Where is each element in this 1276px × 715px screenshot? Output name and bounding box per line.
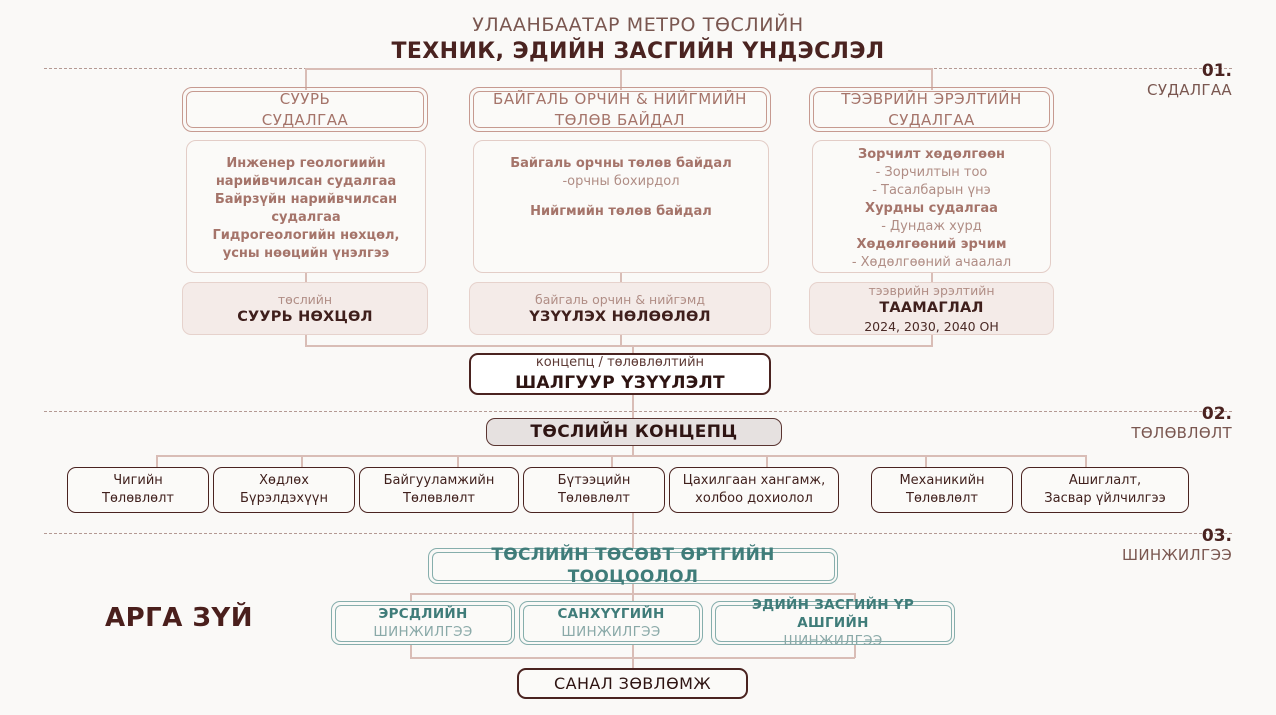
section-name-03: ШИНЖИЛГЭЭ xyxy=(1062,545,1232,565)
research-body-3-inner: Зорчилт хөдөлгөөн - Зорчилтын тоо - Таса… xyxy=(813,146,1050,272)
plan-box-7-label: Ашиглалт,Засвар үйлчилгээ xyxy=(1044,472,1165,508)
research-body-1-line-0: Инженер геологиийн xyxy=(187,155,425,173)
plan-box-4[interactable]: БүтээцийнТөлөвлөлт xyxy=(523,467,665,513)
plan-box-1-label: ЧигийнТөлөвлөлт xyxy=(102,472,174,508)
connector-cost-drop xyxy=(632,584,634,593)
research-result-3-years: 2024, 2030, 2040 ОН xyxy=(864,318,999,335)
plan-box-5[interactable]: Цахилгаан хангамж,холбоо дохиолол xyxy=(669,467,839,513)
research-body-1-line-3: судалгаа xyxy=(187,209,425,227)
research-body-3-line-2: - Тасалбарын үнэ xyxy=(813,182,1050,200)
analysis-box-1-line1: ЭРСДЛИЙН xyxy=(378,605,467,623)
research-body-1-line-5: усны нөөцийн үнэлгээ xyxy=(187,245,425,263)
connector-col2-body-to-result xyxy=(620,273,622,282)
plan-box-7[interactable]: Ашиглалт,Засвар үйлчилгээ xyxy=(1021,467,1189,513)
connector-col1-body-to-result xyxy=(305,273,307,282)
section-label-03: 03. ШИНЖИЛГЭЭ xyxy=(1062,527,1232,565)
research-body-3-line-3: Хурдны судалгаа xyxy=(813,200,1050,218)
section-number-03: 03. xyxy=(1062,527,1232,545)
research-header-3-inner: ТЭЭВРИЙН ЭРЭЛТИЙН СУДАЛГАА xyxy=(813,91,1050,128)
plan-box-3-label: БайгууламжийнТөлөвлөлт xyxy=(384,472,495,508)
research-result-2-small: байгаль орчин & нийгэмд xyxy=(535,291,705,308)
section-label-01: 01. СУДАЛГАА xyxy=(1062,62,1232,100)
connector-analysis-drop-1 xyxy=(410,593,412,601)
connector-top-bus xyxy=(305,68,933,70)
cost-box: ТӨСЛИЙН ТӨСӨВТ ӨРТГИЙН ТООЦООЛОЛ xyxy=(428,548,838,584)
connector-merge-bus xyxy=(305,345,933,347)
research-body-2-line-3: Нийгмийн төлөв байдал xyxy=(474,203,768,221)
section-name-01: СУДАЛГАА xyxy=(1062,80,1232,100)
research-result-3-big: ТААМАГЛАЛ xyxy=(879,299,983,318)
section-number-02: 02. xyxy=(1062,405,1232,423)
indicator-box-big: ШАЛГУУР ҮЗҮҮЛЭЛТ xyxy=(515,372,725,394)
concept-box-label: ТӨСЛИЙН КОНЦЕПЦ xyxy=(530,422,737,442)
research-header-3: ТЭЭВРИЙН ЭРЭЛТИЙН СУДАЛГАА xyxy=(809,87,1054,132)
research-header-3-text: ТЭЭВРИЙН ЭРЭЛТИЙН СУДАЛГАА xyxy=(841,89,1022,131)
plan-box-4-label: БүтээцийнТөлөвлөлт xyxy=(558,472,631,508)
research-body-2: Байгаль орчны төлөв байдал -орчны бохирд… xyxy=(473,140,769,273)
research-body-1-inner: Инженер геологиийн нарийвчилсан судалгаа… xyxy=(187,155,425,263)
connector-col3-body-to-result xyxy=(931,273,933,282)
connector-indicator-to-concept xyxy=(632,395,634,418)
indicator-box: концепц / төлөвлөлтийн ШАЛГУУР ҮЗҮҮЛЭЛТ xyxy=(469,353,771,395)
research-result-1: төслийн СУУРЬ НӨХЦӨЛ xyxy=(182,282,428,335)
final-box-label: САНАЛ ЗӨВЛӨМЖ xyxy=(554,674,711,693)
plan-box-6[interactable]: МеханикийнТөлөвлөлт xyxy=(871,467,1013,513)
concept-box: ТӨСЛИЙН КОНЦЕПЦ xyxy=(486,418,782,446)
analysis-box-3-inner: ЭДИЙН ЗАСГИЙН ҮР АШГИЙН ШИНЖИЛГЭЭ xyxy=(715,605,952,642)
research-body-3-line-6: - Хөдөлгөөний ачаалал xyxy=(813,254,1050,272)
research-body-1-line-4: Гидрогеологийн нөхцөл, xyxy=(187,227,425,245)
research-result-1-small: төслийн xyxy=(278,291,332,308)
research-body-3-line-0: Зорчилт хөдөлгөөн xyxy=(813,146,1050,164)
connector-final-drop xyxy=(632,657,634,668)
research-result-2: байгаль орчин & нийгэмд ҮЗҮҮЛЭХ НӨЛӨӨЛӨЛ xyxy=(469,282,771,335)
research-header-1-inner: СУУРЬ СУДАЛГАА xyxy=(186,91,424,128)
section-name-02: ТӨЛӨВЛӨЛТ xyxy=(1062,423,1232,443)
diagram-canvas: УЛААНБААТАР МЕТРО ТӨСЛИЙН ТЕХНИК, ЭДИЙН … xyxy=(0,0,1276,715)
cost-box-inner: ТӨСЛИЙН ТӨСӨВТ ӨРТГИЙН ТООЦООЛОЛ xyxy=(432,552,835,581)
page-title: УЛААНБААТАР МЕТРО ТӨСЛИЙН ТЕХНИК, ЭДИЙН … xyxy=(0,12,1276,66)
research-body-3: Зорчилт хөдөлгөөн - Зорчилтын тоо - Таса… xyxy=(812,140,1051,273)
indicator-box-small: концепц / төлөвлөлтийн xyxy=(536,354,704,372)
research-result-3: тээврийн эрэлтийн ТААМАГЛАЛ 2024, 2030, … xyxy=(809,282,1054,335)
section-number-01: 01. xyxy=(1062,62,1232,80)
research-result-3-small: тээврийн эрэлтийн xyxy=(868,282,994,299)
research-body-3-line-5: Хөдөлгөөний эрчим xyxy=(813,236,1050,254)
plan-box-2[interactable]: ХөдлөхБүрэлдэхүүн xyxy=(213,467,355,513)
research-body-2-spacer xyxy=(474,191,768,203)
analysis-box-1-inner: ЭРСДЛИЙН ШИНЖИЛГЭЭ xyxy=(335,605,512,642)
research-result-2-big: ҮЗҮҮЛЭХ НӨЛӨӨЛӨЛ xyxy=(529,308,710,327)
cost-box-label: ТӨСЛИЙН ТӨСӨВТ ӨРТГИЙН ТООЦООЛОЛ xyxy=(433,544,834,588)
analysis-box-3-line1: ЭДИЙН ЗАСГИЙН ҮР АШГИЙН xyxy=(716,596,951,632)
connector-analysis-drop-2 xyxy=(632,593,634,601)
research-header-2-inner: БАЙГАЛЬ ОРЧИН & НИЙГМИЙН ТӨЛӨВ БАЙДАЛ xyxy=(473,91,767,128)
section-label-02: 02. ТӨЛӨВЛӨЛТ xyxy=(1062,405,1232,443)
plan-box-6-label: МеханикийнТөлөвлөлт xyxy=(899,472,984,508)
research-body-2-line-0: Байгаль орчны төлөв байдал xyxy=(474,155,768,173)
analysis-box-1-line2: ШИНЖИЛГЭЭ xyxy=(373,623,472,641)
final-box: САНАЛ ЗӨВЛӨМЖ xyxy=(517,668,748,699)
plan-box-3[interactable]: БайгууламжийнТөлөвлөлт xyxy=(359,467,519,513)
analysis-box-2[interactable]: САНХҮҮГИЙН ШИНЖИЛГЭЭ xyxy=(519,601,703,645)
research-header-2: БАЙГАЛЬ ОРЧИН & НИЙГМИЙН ТӨЛӨВ БАЙДАЛ xyxy=(469,87,771,132)
research-body-1-line-2: Байрзүйн нарийвчилсан xyxy=(187,191,425,209)
research-result-1-big: СУУРЬ НӨХЦӨЛ xyxy=(237,308,373,327)
title-line-1: УЛААНБААТАР МЕТРО ТӨСЛИЙН xyxy=(0,12,1276,38)
research-body-2-line-1: -орчны бохирдол xyxy=(474,173,768,191)
research-body-1: Инженер геологиийн нарийвчилсан судалгаа… xyxy=(186,140,426,273)
research-body-2-inner: Байгаль орчны төлөв байдал -орчны бохирд… xyxy=(474,155,768,221)
analysis-box-2-line1: САНХҮҮГИЙН xyxy=(557,605,664,623)
methodology-label: АРГА ЗҮЙ xyxy=(105,603,253,633)
research-body-1-line-1: нарийвчилсан судалгаа xyxy=(187,173,425,191)
analysis-box-2-inner: САНХҮҮГИЙН ШИНЖИЛГЭЭ xyxy=(523,605,700,642)
analysis-box-2-line2: ШИНЖИЛГЭЭ xyxy=(561,623,660,641)
plan-box-5-label: Цахилгаан хангамж,холбоо дохиолол xyxy=(683,472,826,508)
research-header-1: СУУРЬ СУДАЛГАА xyxy=(182,87,428,132)
plan-box-2-label: ХөдлөхБүрэлдэхүүн xyxy=(240,472,328,508)
research-body-3-line-4: - Дундаж хурд xyxy=(813,218,1050,236)
analysis-box-1[interactable]: ЭРСДЛИЙН ШИНЖИЛГЭЭ xyxy=(331,601,515,645)
analysis-box-3[interactable]: ЭДИЙН ЗАСГИЙН ҮР АШГИЙН ШИНЖИЛГЭЭ xyxy=(711,601,955,645)
plan-box-1[interactable]: ЧигийнТөлөвлөлт xyxy=(67,467,209,513)
connector-merge-to-indicator xyxy=(632,345,634,353)
section-divider-03 xyxy=(44,533,1232,534)
research-body-3-line-1: - Зорчилтын тоо xyxy=(813,164,1050,182)
research-header-2-text: БАЙГАЛЬ ОРЧИН & НИЙГМИЙН ТӨЛӨВ БАЙДАЛ xyxy=(493,89,747,131)
analysis-box-3-line2: ШИНЖИЛГЭЭ xyxy=(783,632,882,650)
connector-plan-bus xyxy=(156,455,1086,457)
section-divider-02 xyxy=(44,411,1232,412)
research-header-1-text: СУУРЬ СУДАЛГАА xyxy=(262,89,349,131)
